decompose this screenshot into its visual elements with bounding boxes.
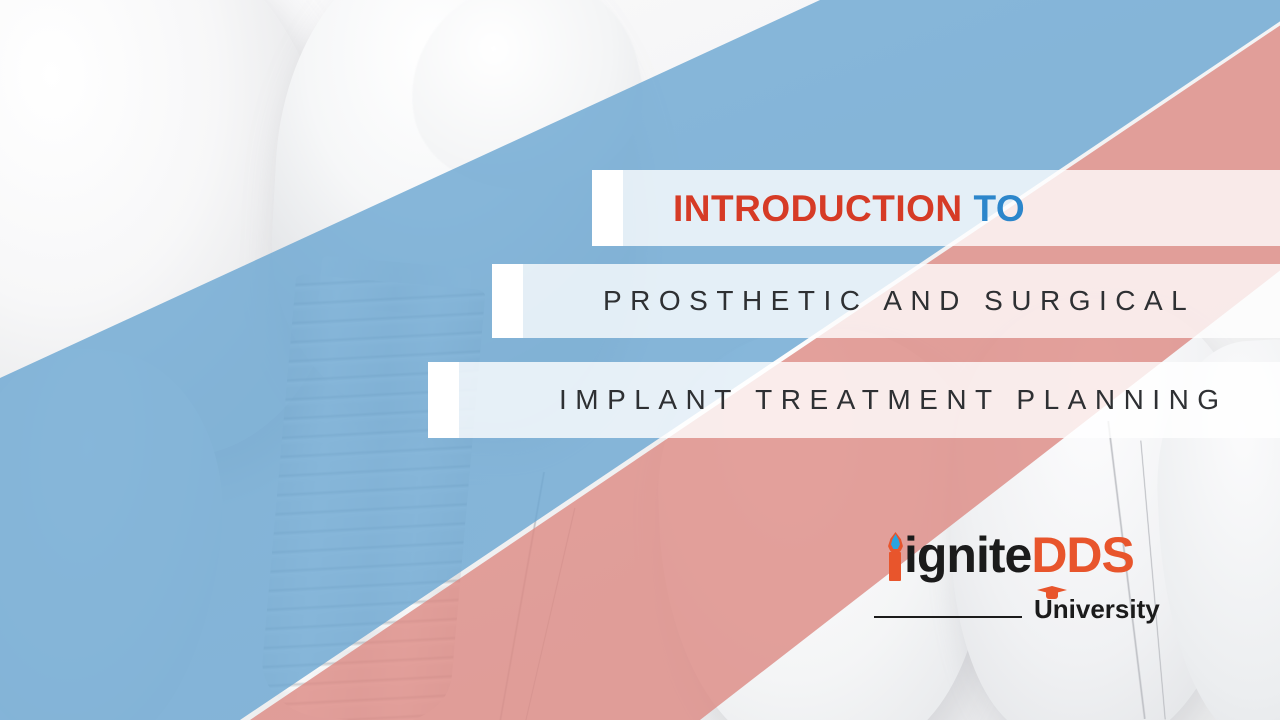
page-title-part-1: INTRODUCTION bbox=[673, 188, 963, 229]
logo-wordmark: igniteDDS bbox=[904, 530, 1134, 580]
logo-ignitedds-university: igniteDDS University bbox=[874, 530, 1144, 638]
title-bar-prosthetic: PROSTHETIC AND SURGICAL bbox=[492, 264, 1280, 338]
logo-wordmark-ignite: ignite bbox=[904, 527, 1031, 583]
title-bar-accent-tab bbox=[428, 362, 459, 438]
title-bar-sheet: PROSTHETIC AND SURGICAL bbox=[523, 264, 1280, 338]
title-bar-accent-tab bbox=[492, 264, 523, 338]
title-bar-implant: IMPLANT TREATMENT PLANNING bbox=[428, 362, 1280, 438]
page-subtitle-line-2: IMPLANT TREATMENT PLANNING bbox=[559, 384, 1228, 416]
title-bar-introduction: INTRODUCTION TO bbox=[592, 170, 1280, 246]
flame-icon bbox=[888, 532, 903, 553]
title-bar-sheet: INTRODUCTION TO bbox=[623, 170, 1280, 246]
logo-university-label: University bbox=[1034, 596, 1160, 622]
slide-canvas: INTRODUCTION TO PROSTHETIC AND SURGICAL … bbox=[0, 0, 1280, 720]
logo-i-stem bbox=[889, 552, 901, 581]
logo-divider-rule bbox=[874, 616, 1022, 618]
logo-wordmark-dds: DDS bbox=[1031, 527, 1134, 583]
page-subtitle-line-1: PROSTHETIC AND SURGICAL bbox=[603, 285, 1195, 317]
page-title: INTRODUCTION TO bbox=[673, 190, 1025, 227]
page-title-part-2: TO bbox=[973, 188, 1025, 229]
title-bar-sheet: IMPLANT TREATMENT PLANNING bbox=[459, 362, 1280, 438]
title-bar-accent-tab bbox=[592, 170, 623, 246]
